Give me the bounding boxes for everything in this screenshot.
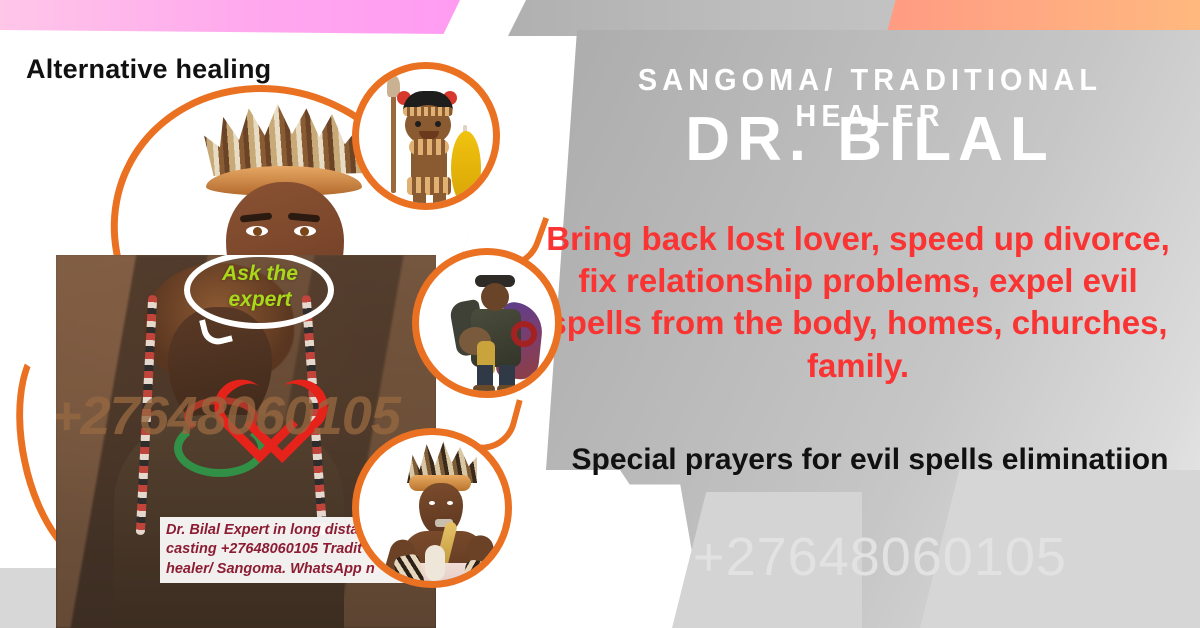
circle-badge-warrior: [352, 62, 500, 210]
dancer-eye-right: [447, 501, 453, 505]
footer-gray-shape-left: [0, 568, 58, 628]
circle-badge-dancer: [352, 428, 512, 588]
warrior-eye-left: [415, 121, 421, 127]
services-text: Bring back lost lover, speed up divorce,…: [528, 218, 1188, 387]
circle-badge-traveler: [412, 248, 562, 398]
alternative-healing-heading: Alternative healing: [26, 54, 271, 85]
dancer-cuff: [425, 545, 445, 581]
subheadline-text: Special prayers for evil spells eliminat…: [560, 440, 1180, 479]
page-title: DR. BILAL: [560, 104, 1180, 175]
portrait-pupil-right: [300, 227, 309, 236]
warrior-eye-right: [435, 121, 441, 127]
photo-phone-overlay: +27648060105: [56, 385, 436, 447]
warrior-fur-collar: [409, 139, 449, 155]
traveler-shoe-right: [497, 385, 519, 393]
traveler-head: [481, 283, 509, 311]
portrait-pupil-left: [253, 227, 262, 236]
top-bar-pink: [0, 0, 460, 34]
warrior-leg-right: [433, 193, 446, 210]
traveler-red-emblem: [511, 321, 537, 347]
warrior-headband: [403, 107, 453, 116]
poster-canvas: SANGOMA/ TRADITIONAL HEALER DR. BILAL Br…: [0, 0, 1200, 628]
shield-icon: [451, 131, 481, 205]
watermark-phone: +27648060105: [560, 526, 1200, 588]
speech-bubble-text: Ask the expert: [196, 261, 324, 314]
spear-icon: [391, 85, 396, 193]
traveler-shoe-left: [473, 385, 495, 393]
warrior-leg-left: [413, 193, 426, 210]
dancer-eye-left: [429, 501, 435, 505]
healer-photo: Ask the expert +27648060105 Dr. Bilal Ex…: [56, 255, 436, 628]
